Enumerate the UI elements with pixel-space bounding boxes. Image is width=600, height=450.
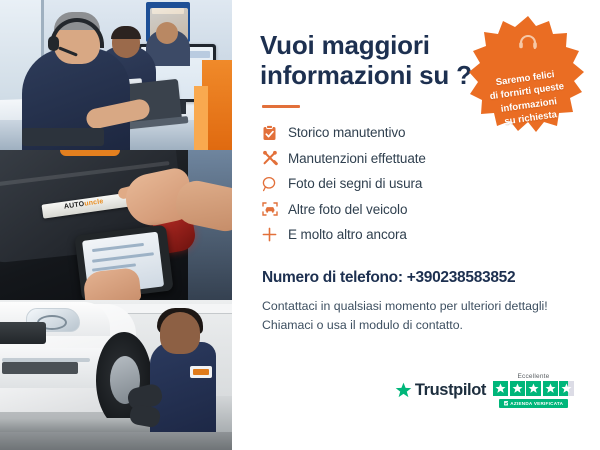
trustpilot-star-icon [395, 382, 412, 399]
list-item-label: Altre foto del veicolo [288, 202, 407, 217]
headline-line-1: Vuoi maggiori [260, 30, 430, 60]
list-item-label: Foto dei segni di usura [288, 176, 422, 191]
accent-divider [262, 105, 300, 108]
wrench-screwdriver-icon [262, 150, 288, 166]
trustpilot-logo: Trustpilot [395, 381, 486, 400]
trustpilot-wordmark: Trustpilot [415, 381, 486, 400]
page-title: Vuoi maggiori informazioni su ? [260, 30, 475, 91]
callout-badge: Saremo felici di fornirti queste informa… [468, 14, 588, 134]
scan-car-icon [262, 201, 288, 217]
content-panel: Saremo felici di fornirti queste informa… [232, 0, 600, 450]
list-item-label: Manutenzioni effettuate [288, 151, 426, 166]
trustpilot-widget[interactable]: Trustpilot Eccellente [395, 373, 574, 408]
list-item: Altre foto del veicolo [262, 196, 578, 222]
phone-number: Numero di telefono: +390238583852 [262, 269, 578, 287]
call-center-photo [0, 0, 232, 150]
magnifier-icon [262, 176, 288, 192]
verified-badge: AZIENDA VERIFICATA [499, 399, 568, 408]
contact-subtext: Contattaci in qualsiasi momento per ulte… [262, 297, 578, 335]
feature-list: Storico manutentivo Manutenzioni effettu… [262, 120, 578, 248]
contact-subtext-line-2: Chiamaci o usa il modulo di contatto. [262, 318, 463, 332]
headline-line-2: informazioni su ? [260, 60, 472, 90]
list-item: E molto altro ancora [262, 222, 578, 248]
list-item: Manutenzioni effettuate [262, 145, 578, 171]
trustpilot-rating-word: Eccellente [518, 373, 550, 380]
promo-card: AUTOuncle [0, 0, 600, 450]
star-filled [543, 381, 558, 396]
star-filled [526, 381, 541, 396]
check-icon [504, 401, 509, 406]
clipboard-check-icon [262, 125, 288, 141]
trustpilot-stars [493, 381, 574, 396]
star-partial [559, 381, 574, 396]
list-item-label: Storico manutentivo [288, 125, 405, 140]
verified-label: AZIENDA VERIFICATA [510, 401, 563, 406]
list-item-label: E molto altro ancora [288, 227, 407, 242]
workshop-lift-photo [0, 300, 232, 450]
list-item: Foto dei segni di usura [262, 171, 578, 197]
photo-column: AUTOuncle [0, 0, 232, 450]
contact-subtext-line-1: Contattaci in qualsiasi momento per ulte… [262, 299, 548, 313]
vehicle-inspection-photo: AUTOuncle [0, 150, 232, 300]
plus-icon [262, 227, 288, 242]
star-filled [493, 381, 508, 396]
headset-icon [518, 34, 538, 48]
star-filled [510, 381, 525, 396]
